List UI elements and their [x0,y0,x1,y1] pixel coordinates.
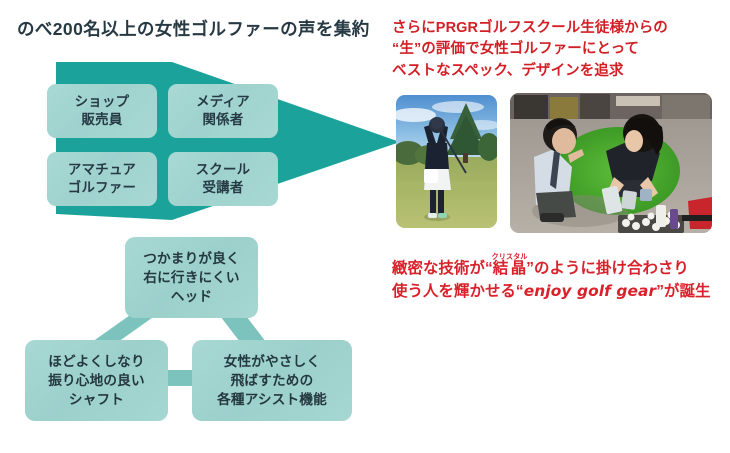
tagline-ruby-base: 結晶 [492,260,528,277]
feature-box-assist-line3: 各種アシスト機能 [217,390,327,409]
tagline-line1: 緻密な技術が“結晶クリスタル”のように掛け合わさり [392,252,711,280]
group-box-media-line1: メディア [196,93,250,111]
feature-box-shaft-line3: シャフト [48,390,145,409]
tagline-line2: 使う人を輝かせる“enjoy golf gear”が誕生 [392,280,711,303]
tagline-brand-phrase: enjoy golf gear [524,282,657,300]
feature-box-assist-line2: 飛ばすための [217,371,327,390]
tagline-line1-before: 緻密な技術が“ [392,260,493,277]
feature-box-shaft: ほどよくしなり 振り心地の良い シャフト [25,340,168,421]
feature-box-head-line2: 右に行きにくい [143,268,240,287]
group-box-amateur-golfer-line1: アマチュア [68,161,136,179]
right-headline-line2: “生”の評価で女性ゴルファーにとって [392,39,668,60]
tagline-line1-after: ”のように掛け合わさり [526,260,689,277]
tagline-ruby-crystal: 結晶クリスタル [493,260,526,277]
feature-box-head: つかまりが良く 右に行きにくい ヘッド [125,237,258,318]
tagline-line2-after: ”が誕生 [656,283,710,300]
group-box-shop-staff-line1: ショップ [75,93,130,111]
group-box-shop-staff-line2: 販売員 [75,111,130,129]
group-box-school-student: スクール 受講者 [168,152,278,206]
tagline-ruby-reading: クリスタル [492,252,528,261]
group-box-amateur-golfer: アマチュア ゴルファー [47,152,157,206]
tagline: 緻密な技術が“結晶クリスタル”のように掛け合わさり 使う人を輝かせる“enjoy… [392,252,711,304]
page-title: のべ200名以上の女性ゴルファーの声を集約 [17,16,370,41]
photo-course-swing [396,95,497,228]
right-headline: さらにPRGRゴルフスクール生徒様からの “生”の評価で女性ゴルファーにとって … [392,18,668,82]
feature-box-shaft-line2: 振り心地の良い [48,371,145,390]
photo-fitting-lesson [510,93,712,233]
feature-box-assist-line1: 女性がやさしく [217,352,327,371]
group-box-school-student-line2: 受講者 [196,179,251,197]
tagline-line2-before: 使う人を輝かせる“ [392,283,524,300]
feature-box-shaft-line1: ほどよくしなり [48,352,145,371]
feature-box-head-line1: つかまりが良く [143,249,240,268]
group-box-school-student-line1: スクール [196,161,251,179]
right-headline-line1: さらにPRGRゴルフスクール生徒様からの [392,18,668,39]
feature-box-head-line3: ヘッド [143,287,240,306]
infographic-canvas: のべ200名以上の女性ゴルファーの声を集約 ショップ 販売員 メディア 関係者 … [0,0,730,453]
feature-box-assist: 女性がやさしく 飛ばすための 各種アシスト機能 [192,340,352,421]
group-box-media: メディア 関係者 [168,84,278,138]
group-box-amateur-golfer-line2: ゴルファー [68,179,136,197]
group-box-media-line2: 関係者 [196,111,250,129]
right-headline-line3: ベストなスペック、デザインを追求 [392,61,668,82]
group-box-shop-staff: ショップ 販売員 [47,84,157,138]
